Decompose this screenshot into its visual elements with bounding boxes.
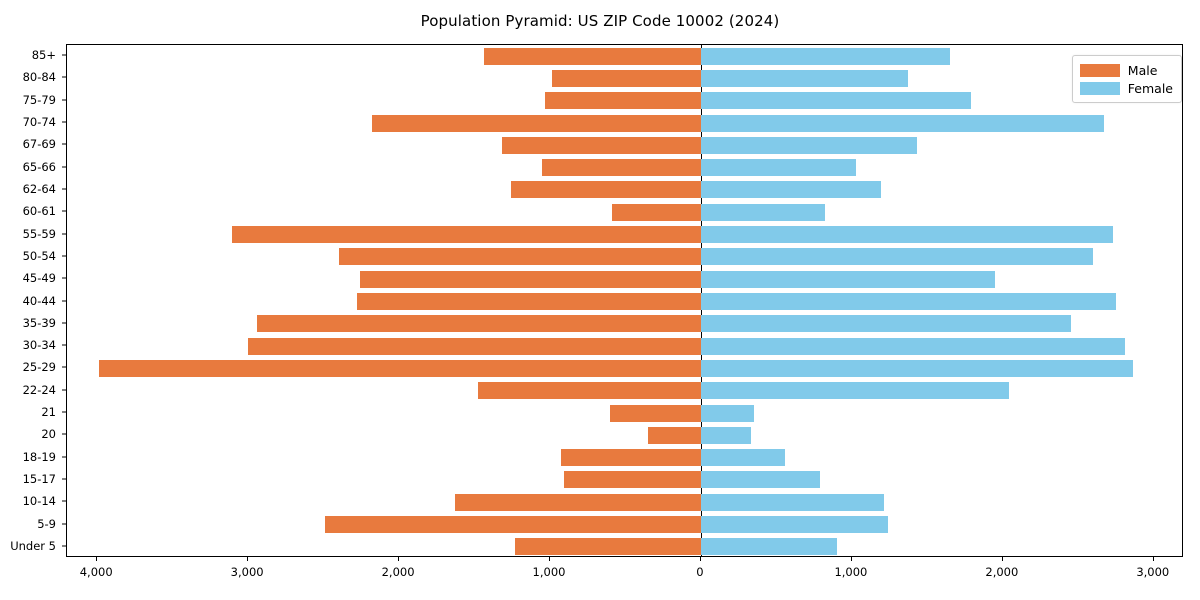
x-tick-mark [247, 557, 248, 561]
population-pyramid-figure: Population Pyramid: US ZIP Code 10002 (2… [0, 0, 1200, 600]
x-tick-label: 1,000 [533, 565, 566, 579]
bar-male-80-84 [552, 70, 701, 87]
bar-male-35-39 [257, 315, 701, 332]
y-axis: 85+80-8475-7970-7467-6965-6662-6460-6155… [0, 44, 66, 557]
legend[interactable]: Male Female [1072, 55, 1182, 103]
x-tick-label: 4,000 [80, 565, 113, 579]
bar-female-30-34 [701, 338, 1125, 355]
y-tick-label: 25-29 [23, 360, 56, 374]
bar-female-22-24 [701, 382, 1009, 399]
x-tick-label: 1,000 [834, 565, 867, 579]
bar-female-62-64 [701, 181, 881, 198]
y-tick-label: 62-64 [23, 182, 56, 196]
y-tick-label: 60-61 [23, 204, 56, 218]
x-tick-mark [700, 557, 701, 561]
y-tick-label: 10-14 [23, 494, 56, 508]
y-tick-label: 75-79 [23, 93, 56, 107]
y-tick-label: 18-19 [23, 450, 56, 464]
bar-male-62-64 [511, 181, 701, 198]
y-tick-label: 21 [41, 405, 56, 419]
bar-female-67-69 [701, 137, 917, 154]
bar-male-18-19 [561, 449, 701, 466]
bar-male-50-54 [339, 248, 701, 265]
bar-female-80-84 [701, 70, 908, 87]
bar-male-under-5 [515, 538, 701, 555]
bar-male-67-69 [502, 137, 701, 154]
legend-label-female: Female [1128, 81, 1173, 96]
x-tick-label: 0 [696, 565, 703, 579]
x-tick-mark [1153, 557, 1154, 561]
y-tick-label: 5-9 [37, 517, 56, 531]
bar-male-10-14 [455, 494, 701, 511]
plot-area [66, 44, 1183, 557]
legend-entry-female: Female [1080, 79, 1173, 97]
bar-female-50-54 [701, 248, 1093, 265]
x-tick-mark [851, 557, 852, 561]
bar-female-5-9 [701, 516, 888, 533]
bar-female-85- [701, 48, 950, 65]
y-tick-label: 55-59 [23, 227, 56, 241]
bar-female-25-29 [701, 360, 1133, 377]
y-tick-label: 30-34 [23, 338, 56, 352]
bar-male-65-66 [542, 159, 700, 176]
bar-female-60-61 [701, 204, 825, 221]
bar-female-20 [701, 427, 751, 444]
x-tick-label: 2,000 [985, 565, 1018, 579]
bar-female-35-39 [701, 315, 1071, 332]
bar-female-18-19 [701, 449, 786, 466]
y-tick-label: 80-84 [23, 70, 56, 84]
x-tick-label: 3,000 [231, 565, 264, 579]
legend-swatch-female [1080, 82, 1120, 95]
y-tick-label: 45-49 [23, 271, 56, 285]
bar-female-70-74 [701, 115, 1104, 132]
y-tick-label: 20 [41, 427, 56, 441]
y-tick-label: 22-24 [23, 383, 56, 397]
chart-title: Population Pyramid: US ZIP Code 10002 (2… [0, 12, 1200, 30]
bar-male-30-34 [248, 338, 701, 355]
x-tick-mark [398, 557, 399, 561]
y-tick-label: 70-74 [23, 115, 56, 129]
legend-entry-male: Male [1080, 61, 1173, 79]
bar-male-85- [484, 48, 701, 65]
bar-female-55-59 [701, 226, 1113, 243]
bar-female-15-17 [701, 471, 820, 488]
bar-male-40-44 [357, 293, 701, 310]
bar-male-75-79 [545, 92, 700, 109]
bar-male-55-59 [232, 226, 701, 243]
y-tick-label: 65-66 [23, 160, 56, 174]
bar-female-65-66 [701, 159, 856, 176]
bar-male-60-61 [612, 204, 701, 221]
bar-male-5-9 [325, 516, 701, 533]
x-tick-label: 3,000 [1136, 565, 1169, 579]
bar-male-15-17 [564, 471, 701, 488]
legend-label-male: Male [1128, 63, 1158, 78]
bar-male-70-74 [372, 115, 701, 132]
bar-female-21 [701, 405, 754, 422]
y-tick-label: 35-39 [23, 316, 56, 330]
legend-swatch-male [1080, 64, 1120, 77]
x-tick-mark [96, 557, 97, 561]
bar-male-22-24 [478, 382, 701, 399]
bar-male-21 [610, 405, 701, 422]
bar-female-40-44 [701, 293, 1116, 310]
y-tick-label: 50-54 [23, 249, 56, 263]
bar-male-20 [648, 427, 701, 444]
y-tick-label: 67-69 [23, 137, 56, 151]
x-tick-mark [549, 557, 550, 561]
x-tick-label: 2,000 [382, 565, 415, 579]
bar-male-25-29 [99, 360, 701, 377]
bar-female-under-5 [701, 538, 837, 555]
x-tick-mark [1002, 557, 1003, 561]
bar-female-75-79 [701, 92, 971, 109]
y-tick-label: 15-17 [23, 472, 56, 486]
y-tick-label: 85+ [32, 48, 56, 62]
y-tick-label: 40-44 [23, 294, 56, 308]
x-axis: 4,0003,0002,0001,00001,0002,0003,000 [66, 557, 1183, 597]
bar-female-45-49 [701, 271, 995, 288]
bar-male-45-49 [360, 271, 701, 288]
y-tick-label: Under 5 [10, 539, 56, 553]
bar-female-10-14 [701, 494, 884, 511]
